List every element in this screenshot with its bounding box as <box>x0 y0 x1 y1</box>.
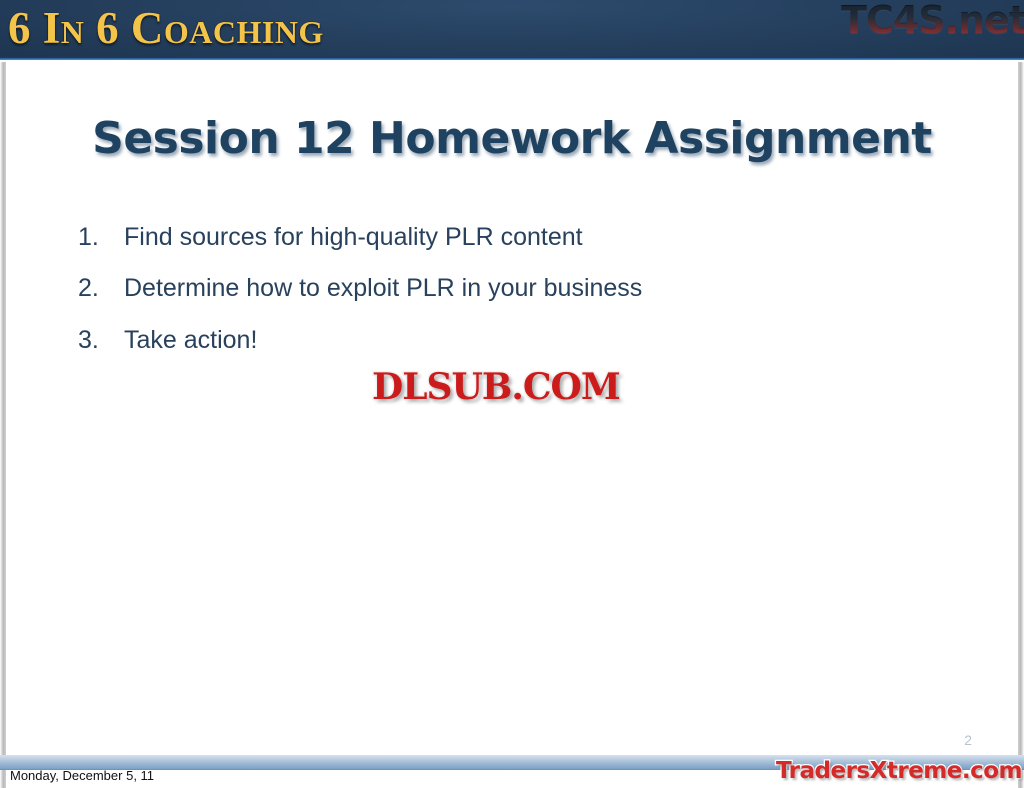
brand-title: 6 In 6 Coaching <box>8 6 324 51</box>
page-title: Session 12 Homework Assignment <box>0 116 1024 162</box>
slide-header-band: 6 In 6 Coaching TC4S.net <box>0 0 1024 60</box>
footer-date: Monday, December 5, 11 <box>10 768 154 783</box>
tradersxtreme-site-logo: TradersXtreme.com <box>776 760 1022 783</box>
list-item-label: Find sources for high-quality PLR conten… <box>124 222 928 253</box>
slide-left-border <box>0 62 6 788</box>
list-item: 3. Take action! <box>78 325 928 356</box>
presentation-slide: 6 In 6 Coaching TC4S.net Session 12 Home… <box>0 0 1024 788</box>
list-item-label: Take action! <box>124 325 928 356</box>
list-item-number: 3. <box>78 325 124 356</box>
list-item-number: 1. <box>78 222 124 253</box>
list-item-number: 2. <box>78 273 124 304</box>
homework-list: 1. Find sources for high-quality PLR con… <box>78 222 928 376</box>
page-number: 2 <box>964 732 972 748</box>
list-item: 1. Find sources for high-quality PLR con… <box>78 222 928 253</box>
list-item-label: Determine how to exploit PLR in your bus… <box>124 273 928 304</box>
list-item: 2. Determine how to exploit PLR in your … <box>78 273 928 304</box>
dlsub-watermark: DLSUB.COM <box>372 369 620 405</box>
slide-right-border <box>1018 62 1024 788</box>
tc4s-site-logo: TC4S.net <box>841 1 1024 39</box>
